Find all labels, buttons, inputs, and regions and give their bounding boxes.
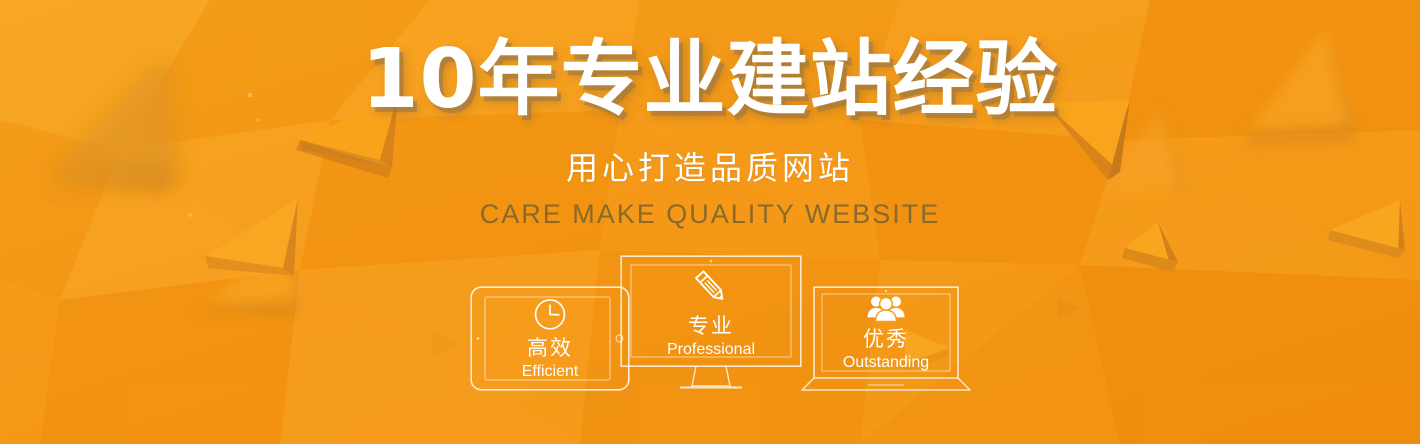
feature-card-outstanding[interactable]: 优秀 Outstanding [800,286,972,396]
people-group-icon [864,293,908,324]
feature-label-cn-professional: 专业 [688,315,734,338]
clock-icon [529,296,571,333]
feature-devices-group: 高效 Efficient [0,250,1420,444]
feature-card-efficient[interactable]: 高效 Efficient [470,286,630,391]
feature-label-cn-outstanding: 优秀 [863,328,909,351]
feature-label-en-professional: Professional [667,340,755,359]
feature-label-en-outstanding: Outstanding [843,353,929,372]
pencil-icon [685,263,737,311]
feature-label-cn-efficient: 高效 [527,337,573,360]
promo-banner: 10年专业建站经验 用心打造品质网站 CARE MAKE QUALITY WEB… [0,0,1420,444]
feature-label-en-efficient: Efficient [522,362,579,381]
feature-card-professional[interactable]: 专业 Professional [620,255,802,395]
